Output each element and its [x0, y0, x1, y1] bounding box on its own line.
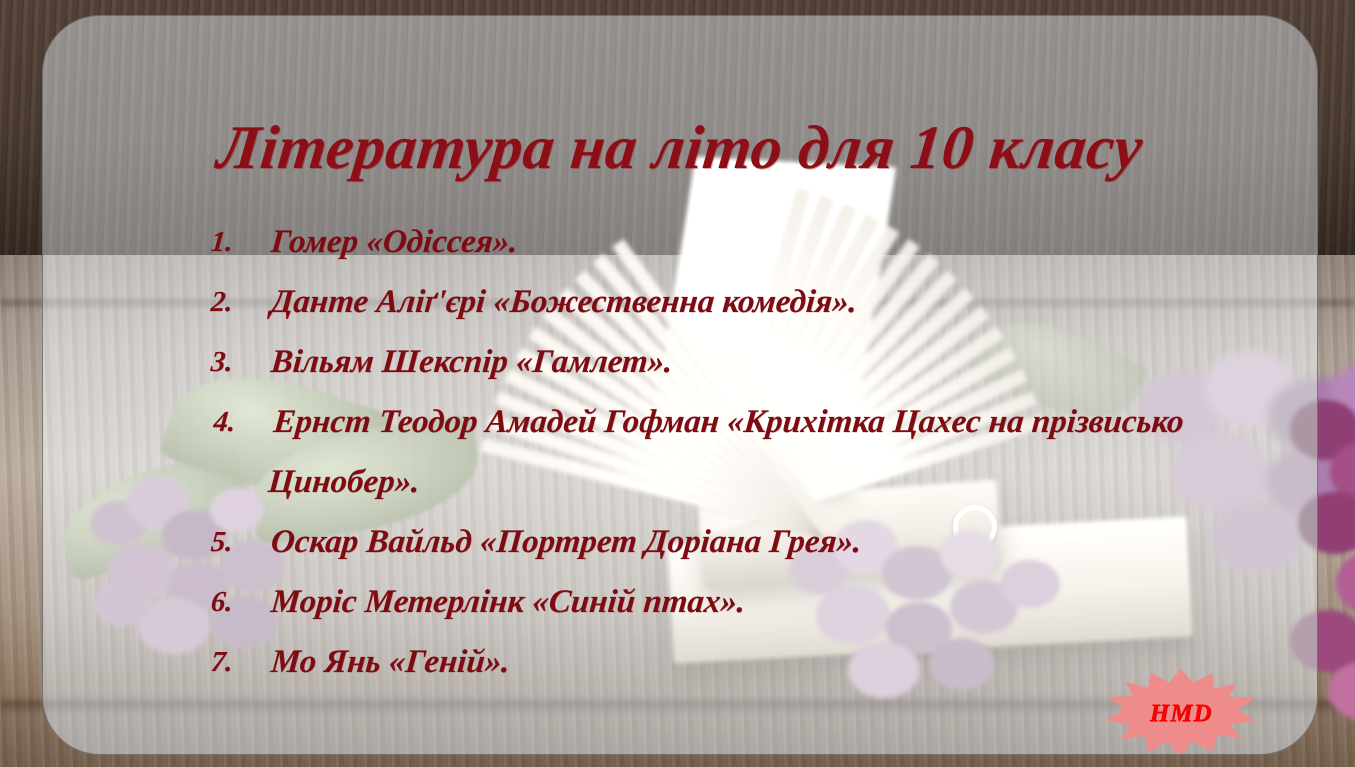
list-item-number: 7.	[208, 632, 273, 692]
list-item: 6. Моріс Метерлінк «Синій птах».	[208, 572, 1273, 632]
list-item-text: Моріс Метерлінк «Синій птах».	[268, 572, 1273, 632]
slide-root: Література на літо для 10 класу 1. Гомер…	[0, 0, 1355, 767]
list-item-number: 3.	[208, 332, 273, 392]
content-panel: Література на літо для 10 класу 1. Гомер…	[42, 15, 1318, 755]
list-item-text: Данте Аліґ'єрі «Божественна комедія».	[268, 272, 1273, 332]
reading-list: 1. Гомер «Одіссея». 2. Данте Аліґ'єрі «Б…	[211, 212, 1271, 692]
content-panel-inner: Література на літо для 10 класу 1. Гомер…	[43, 16, 1317, 754]
page-title: Література на літо для 10 класу	[42, 116, 1318, 181]
list-item-text: Ернст Теодор Амадей Гофман «Крихітка Цах…	[266, 392, 1276, 512]
list-item: 2. Данте Аліґ'єрі «Божественна комедія».	[208, 272, 1273, 332]
list-item-text: Гомер «Одіссея».	[268, 212, 1273, 272]
list-item-number: 1.	[208, 212, 273, 272]
list-item-number: 4.	[211, 392, 276, 452]
hmd-badge: HMD	[1106, 669, 1256, 755]
list-item: 3. Вільям Шекспір «Гамлет».	[208, 332, 1273, 392]
hmd-badge-label: HMD	[1106, 669, 1256, 755]
list-item-text: Вільям Шекспір «Гамлет».	[268, 332, 1273, 392]
list-item-number: 5.	[208, 512, 273, 572]
list-item-number: 2.	[208, 272, 273, 332]
list-item: 5. Оскар Вайльд «Портрет Доріана Грея».	[208, 512, 1273, 572]
list-item: 1. Гомер «Одіссея».	[208, 212, 1273, 272]
list-item-number: 6.	[208, 572, 273, 632]
list-item-text: Оскар Вайльд «Портрет Доріана Грея».	[268, 512, 1273, 572]
list-item: 4. Ернст Теодор Амадей Гофман «Крихітка …	[206, 392, 1276, 512]
